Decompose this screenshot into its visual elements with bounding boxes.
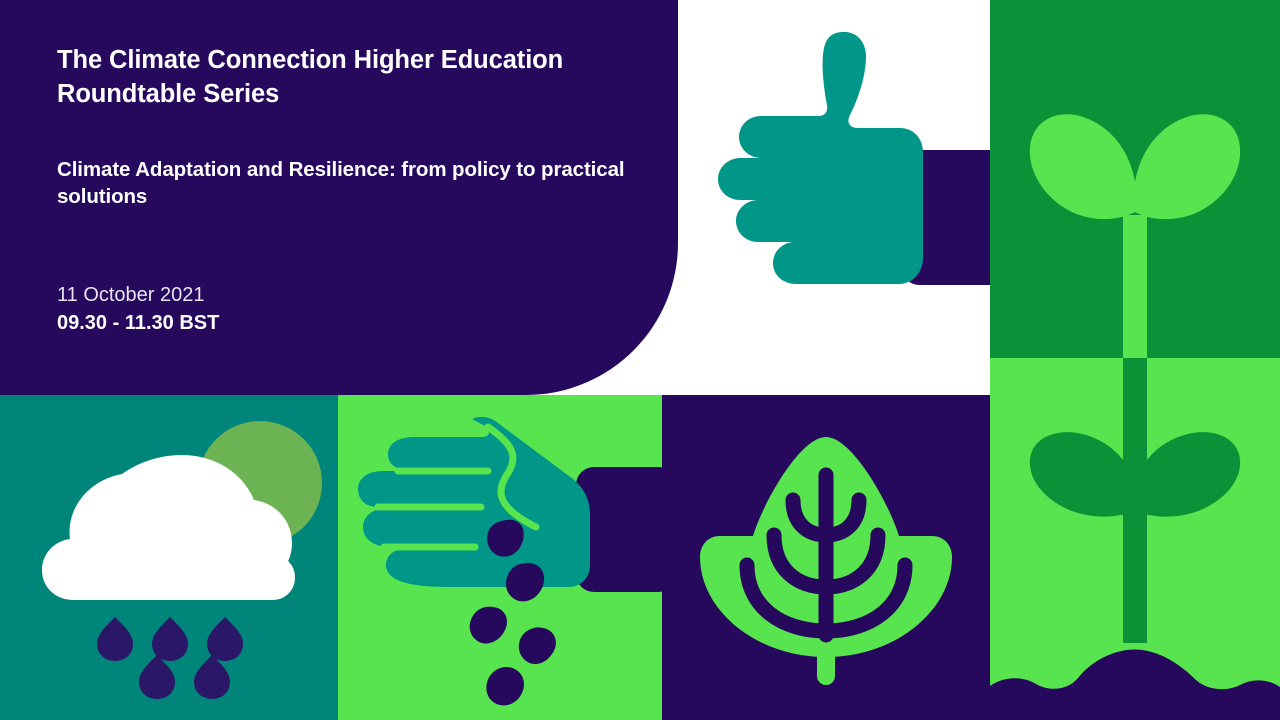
seedling-bottom-tile: [990, 358, 1280, 720]
raindrop-icon: [139, 655, 175, 699]
seedling-left-leaf-shape: [1030, 114, 1135, 219]
seed-icon: [486, 667, 524, 705]
thumb-hand-shape: [718, 32, 923, 284]
seedling-soil-icon: [990, 358, 1280, 720]
raindrop-icon: [207, 617, 243, 661]
page-title: The Climate Connection Higher Education …: [57, 44, 632, 112]
seed-icon: [519, 627, 556, 664]
seed-icon: [470, 607, 507, 644]
seedling-stem-shape: [1123, 215, 1147, 358]
page-subtitle: Climate Adaptation and Resilience: from …: [57, 112, 632, 211]
seedling-top-tile: [990, 0, 1280, 358]
raindrop-icon: [97, 617, 133, 661]
rain-cloud-icon: [0, 395, 338, 720]
rain-cloud-tile: [0, 395, 338, 720]
event-meta-block: 11 October 2021 09.30 - 11.30 BST: [57, 281, 219, 338]
leaf-stalk-shape: [817, 643, 835, 685]
hand-sowing-seeds-icon: [338, 395, 662, 720]
seedling-right-leaf-shape: [1135, 432, 1240, 517]
seedling-right-leaf-shape: [1135, 114, 1240, 219]
raindrop-icon: [194, 655, 230, 699]
poster-canvas: The Climate Connection Higher Education …: [0, 0, 1280, 720]
event-time: 09.30 - 11.30 BST: [57, 309, 219, 337]
hero-panel: The Climate Connection Higher Education …: [0, 0, 678, 395]
raindrop-icon: [152, 617, 188, 661]
open-hand-shape: [358, 417, 590, 587]
thumbs-up-tile: [678, 0, 990, 395]
thumbs-up-icon: [678, 0, 990, 395]
leaf-tile: [662, 395, 990, 720]
leaf-icon: [662, 395, 990, 720]
seedling-left-leaf-shape: [1030, 432, 1135, 517]
sowing-hand-tile: [338, 395, 662, 720]
cloud-base-shape: [60, 555, 295, 600]
soil-mound-icon: [990, 650, 1280, 720]
event-date: 11 October 2021: [57, 281, 219, 309]
hero-text-block: The Climate Connection Higher Education …: [57, 44, 632, 210]
seedling-icon: [990, 0, 1280, 358]
